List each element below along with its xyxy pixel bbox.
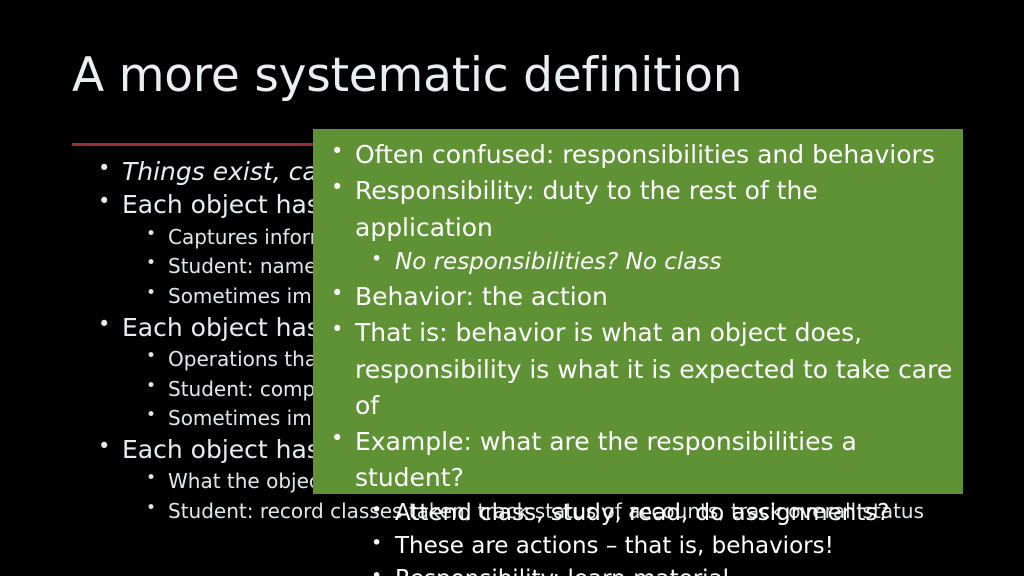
presentation-slide: A more systematic definition Things exis… (0, 0, 1024, 576)
callout-bullet-item: Responsibility: learn material (325, 563, 961, 576)
callout-bullet-item: Behavior: the action (325, 279, 961, 315)
green-callout-box: Often confused: responsibilities and beh… (313, 129, 963, 494)
callout-bullet-item: Attend class, study, read, do assignment… (325, 497, 961, 530)
page-title: A more systematic definition (72, 51, 952, 102)
callout-bullet-item: That is: behavior is what an object does… (325, 315, 961, 351)
callout-bullet-item: responsibility is what it is expected to… (325, 352, 961, 425)
callout-bullet-list: Often confused: responsibilities and beh… (325, 137, 961, 576)
callout-bullet-item: These are actions – that is, behaviors! (325, 530, 961, 563)
callout-bullet-item: No responsibilities? No class (325, 246, 961, 279)
callout-bullet-item: Often confused: responsibilities and beh… (325, 137, 961, 173)
callout-bullet-item: Example: what are the responsibilities a… (325, 424, 961, 497)
callout-bullet-item: Responsibility: duty to the rest of the … (325, 173, 961, 246)
